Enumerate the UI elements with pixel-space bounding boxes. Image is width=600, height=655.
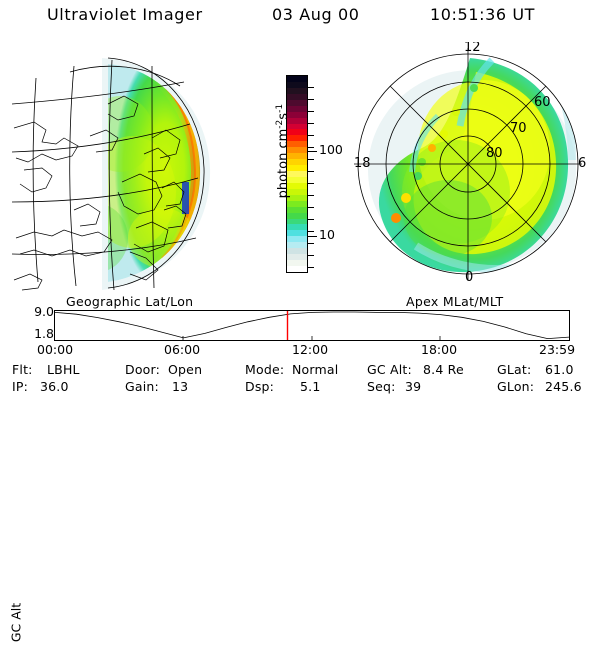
altitude-ytick-top: 9.0 bbox=[34, 304, 54, 319]
status-dsp-value: 5.1 bbox=[300, 379, 320, 394]
altitude-xlabel-4: 23:59 bbox=[539, 342, 575, 357]
colorbar-minor-tick bbox=[308, 111, 314, 112]
colorbar-minor-tick bbox=[308, 123, 314, 124]
colorbar-minor-tick bbox=[308, 147, 314, 148]
colorbar-minor-tick bbox=[308, 243, 314, 244]
colorbar-minor-tick bbox=[308, 219, 314, 220]
status-bar: Flt: LBHL Door: Open Mode: Normal GC Alt… bbox=[0, 362, 600, 400]
colorbar-axis-label: photon cm-2s-1 bbox=[275, 71, 291, 231]
colorbar: photon cm-2s-1 10010 bbox=[255, 60, 345, 292]
status-gcalt-value: 8.4 Re bbox=[423, 362, 464, 377]
status-ip-label: IP: bbox=[12, 379, 28, 394]
colorbar-unit-exp2: -1 bbox=[275, 104, 285, 113]
altitude-xlabel-0: 00:00 bbox=[37, 342, 73, 357]
geographic-auroral-image bbox=[12, 42, 252, 294]
altitude-time-plot[interactable]: GC Alt 9.0 1.8 00:00 06:00 12:00 18:00 2… bbox=[0, 300, 600, 358]
auroral-oval-emission bbox=[368, 58, 576, 272]
colorbar-minor-tick bbox=[308, 159, 314, 160]
mlt-label-12: 12 bbox=[464, 42, 481, 55]
mlat-label-70: 70 bbox=[510, 121, 527, 136]
colorbar-band bbox=[287, 266, 307, 272]
polar-image-panel[interactable]: 12 18 6 0 60 70 80 bbox=[352, 42, 590, 294]
altitude-plot-box bbox=[54, 310, 570, 341]
colorbar-tick-label-0: 100 bbox=[319, 142, 343, 157]
colorbar-minor-tick bbox=[308, 267, 314, 268]
altitude-trace-line bbox=[55, 312, 569, 339]
altitude-xaxis-labels: 00:00 06:00 12:00 18:00 23:59 bbox=[0, 342, 600, 358]
status-ip-value: 36.0 bbox=[40, 379, 69, 394]
altitude-ytick-bottom: 1.8 bbox=[34, 326, 54, 341]
colorbar-major-tick bbox=[308, 151, 317, 152]
instrument-title: Ultraviolet Imager bbox=[47, 5, 203, 24]
colorbar-minor-tick bbox=[308, 207, 314, 208]
altitude-xlabel-3: 18:00 bbox=[421, 342, 457, 357]
colorbar-tick-label-1: 10 bbox=[319, 227, 335, 242]
altitude-trace-svg bbox=[55, 311, 569, 340]
colorbar-minor-tick bbox=[308, 171, 314, 172]
colorbar-minor-tick bbox=[308, 231, 314, 232]
status-seq-label: Seq: bbox=[367, 379, 396, 394]
colorbar-major-tick bbox=[308, 236, 317, 237]
status-door-value: Open bbox=[168, 362, 202, 377]
mlt-label-18: 18 bbox=[354, 156, 371, 171]
observation-date: 03 Aug 00 bbox=[272, 5, 360, 24]
mlt-label-6: 6 bbox=[578, 156, 586, 171]
status-glat-value: 61.0 bbox=[545, 362, 574, 377]
altitude-xlabel-1: 06:00 bbox=[164, 342, 200, 357]
altitude-axis-label: GC Alt bbox=[9, 591, 24, 655]
status-glon-label: GLon: bbox=[497, 379, 534, 394]
colorbar-minor-tick bbox=[308, 99, 314, 100]
colorbar-unit-mid: s bbox=[276, 113, 291, 120]
observation-time: 10:51:36 UT bbox=[430, 5, 535, 24]
status-gcalt-label: GC Alt: bbox=[367, 362, 412, 377]
altitude-xlabel-2: 12:00 bbox=[292, 342, 328, 357]
colorbar-minor-tick bbox=[308, 255, 314, 256]
mlt-label-0: 0 bbox=[465, 270, 473, 285]
apex-mlat-mlt-plot bbox=[352, 42, 590, 294]
status-flight-value: LBHL bbox=[47, 362, 80, 377]
status-mode-label: Mode: bbox=[245, 362, 284, 377]
status-door-label: Door: bbox=[125, 362, 160, 377]
mlat-label-80: 80 bbox=[486, 146, 503, 161]
mlat-label-60: 60 bbox=[534, 95, 551, 110]
status-glon-value: 245.6 bbox=[545, 379, 582, 394]
status-glat-label: GLat: bbox=[497, 362, 531, 377]
header-bar: Ultraviolet Imager 03 Aug 00 10:51:36 UT bbox=[0, 5, 600, 31]
status-seq-value: 39 bbox=[405, 379, 421, 394]
polar-grid bbox=[354, 48, 582, 280]
colorbar-unit-main: photon cm bbox=[276, 129, 291, 199]
geographic-image-panel[interactable] bbox=[12, 42, 252, 294]
colorbar-minor-tick bbox=[308, 87, 314, 88]
colorbar-unit-exp1: -2 bbox=[275, 120, 285, 129]
status-gain-value: 13 bbox=[172, 379, 188, 394]
status-dsp-label: Dsp: bbox=[245, 379, 274, 394]
status-flight-label: Flt: bbox=[12, 362, 33, 377]
colorbar-minor-tick bbox=[308, 195, 314, 196]
colorbar-minor-tick bbox=[308, 183, 314, 184]
colorbar-tick-marks bbox=[308, 75, 317, 273]
status-gain-label: Gain: bbox=[125, 379, 159, 394]
colorbar-minor-tick bbox=[308, 135, 314, 136]
status-mode-value: Normal bbox=[292, 362, 338, 377]
